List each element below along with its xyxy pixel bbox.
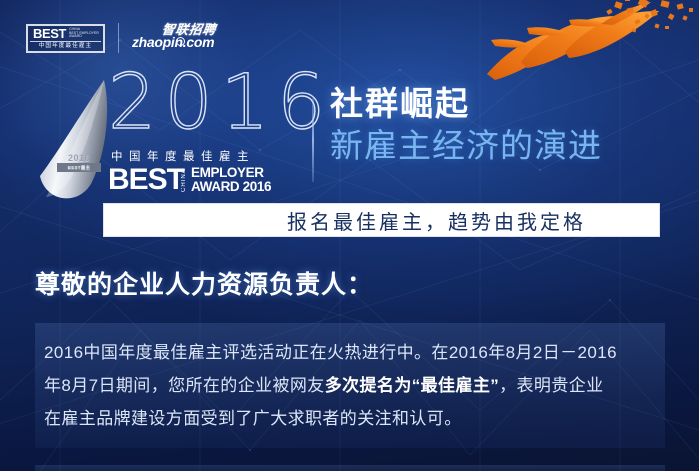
brand-divider (118, 23, 119, 53)
brand-bar: BEST CHINA BEST EMPLOYER AWARD 中国年度最佳雇主 … (26, 18, 242, 58)
trophy-engraving-year: 2016 (68, 153, 90, 163)
hero-section: 2016 BEST雇主 2016 中国年度最佳雇主 BEST CHINA EMP… (0, 70, 699, 202)
best-badge-cn-line: 中国年度最佳雇主 (30, 41, 101, 51)
body-line-3: 在雇主品牌建设方面受到了广大求职者的关注和认可。 (44, 402, 660, 435)
best-badge-word: BEST (33, 28, 66, 40)
body-panel-footer-strip (35, 465, 665, 471)
body-line-2-emphasis: 多次提名为“最佳雇主” (325, 376, 499, 395)
lockup-year: 2016 (108, 64, 333, 140)
greeting-heading: 尊敬的企业人力资源负责人： (35, 265, 373, 301)
body-line-1: 2016中国年度最佳雇主评选活动正在火热进行中。在2016年8月2日－2016 (44, 336, 660, 369)
trophy-engraving-label: BEST雇主 (57, 163, 101, 172)
lockup-cn-line: 中国年度最佳雇主 (111, 148, 255, 164)
lockup-eng-line-1: EMPLOYER (191, 166, 271, 180)
zhaopin-logo-en: zhaopin.com (132, 34, 214, 50)
award-lockup: 2016 中国年度最佳雇主 BEST CHINA EMPLOYER AWARD … (108, 70, 304, 200)
slogan-line-1: 社群崛起 (330, 84, 602, 124)
best-badge-eng-line-3: AWARD (69, 35, 99, 39)
zhaopin-logo[interactable]: 智联招聘 zhaopin.com (132, 21, 242, 55)
body-line-2-post: ，表明贵企业 (499, 376, 603, 395)
call-to-action-ribbon[interactable]: 报名最佳雇主，趋势由我定格 (103, 203, 660, 237)
ribbon-text: 报名最佳雇主，趋势由我定格 (177, 206, 586, 235)
lockup-best-word: BEST (108, 166, 184, 194)
body-line-2: 年8月7日期间，您所在的企业被网友多次提名为“最佳雇主”，表明贵企业 (44, 369, 660, 402)
trophy-engraving: 2016 BEST雇主 (57, 154, 101, 172)
best-award-badge[interactable]: BEST CHINA BEST EMPLOYER AWARD 中国年度最佳雇主 (26, 24, 105, 53)
poster-canvas: BEST CHINA BEST EMPLOYER AWARD 中国年度最佳雇主 … (0, 0, 699, 471)
hero-slogan: 社群崛起 新雇主经济的演进 (330, 84, 602, 168)
body-line-2-pre: 年8月7日期间，您所在的企业被网友 (44, 376, 325, 395)
body-text: 2016中国年度最佳雇主评选活动正在火热进行中。在2016年8月2日－2016 … (44, 336, 660, 435)
hero-vertical-divider (312, 98, 314, 182)
body-panel: 2016中国年度最佳雇主评选活动正在火热进行中。在2016年8月2日－2016 … (35, 323, 665, 448)
slogan-line-2: 新雇主经济的演进 (330, 124, 602, 168)
lockup-vertical-china: CHINA (181, 166, 188, 192)
lockup-eng-line-2: AWARD 2016 (191, 180, 271, 194)
